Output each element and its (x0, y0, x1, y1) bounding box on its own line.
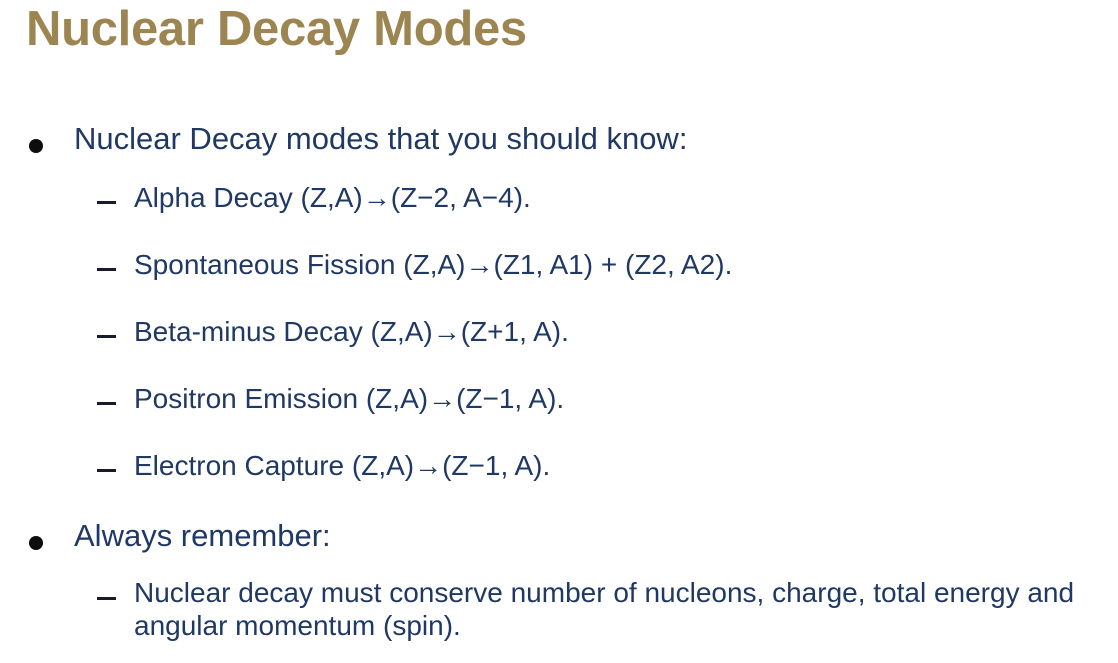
list-item-label: Electron Capture (Z,A)→(Z−1, A). (134, 448, 550, 484)
list-item: Spontaneous Fission (Z,A)→(Z1, A1) + (Z2… (0, 247, 1118, 314)
bullet-dash-icon (97, 268, 116, 271)
list-item-label: Always remember: (74, 515, 331, 557)
bullet-dash-icon (97, 335, 116, 338)
bullet-dot-icon (29, 139, 43, 153)
list-item-label: Nuclear Decay modes that you should know… (74, 118, 687, 160)
list-item-label: Nuclear decay must conserve number of nu… (134, 577, 1099, 643)
slide-canvas: Nuclear Decay Modes Nuclear Decay modes … (0, 0, 1118, 663)
bullet-dash-icon (97, 597, 116, 600)
list-item: Positron Emission (Z,A)→(Z−1, A). (0, 381, 1118, 448)
list-item-label: Beta-minus Decay (Z,A)→(Z+1, A). (134, 314, 569, 350)
list-item-label: Spontaneous Fission (Z,A)→(Z1, A1) + (Z2… (134, 247, 732, 283)
list-item-label: Alpha Decay (Z,A)→(Z−2, A−4). (134, 180, 531, 216)
list-item: Electron Capture (Z,A)→(Z−1, A). (0, 448, 1118, 515)
list-item: Always remember: (0, 515, 1118, 577)
bullet-list: Nuclear Decay modes that you should know… (0, 118, 1118, 651)
list-item: Nuclear Decay modes that you should know… (0, 118, 1118, 180)
bullet-dash-icon (97, 402, 116, 405)
list-item: Alpha Decay (Z,A)→(Z−2, A−4). (0, 180, 1118, 247)
list-item-label: Positron Emission (Z,A)→(Z−1, A). (134, 381, 564, 417)
bullet-dash-icon (97, 201, 116, 204)
bullet-dash-icon (97, 469, 116, 472)
list-item: Nuclear decay must conserve number of nu… (0, 577, 1118, 651)
page-title: Nuclear Decay Modes (26, 2, 527, 57)
list-item: Beta-minus Decay (Z,A)→(Z+1, A). (0, 314, 1118, 381)
bullet-dot-icon (29, 536, 43, 550)
